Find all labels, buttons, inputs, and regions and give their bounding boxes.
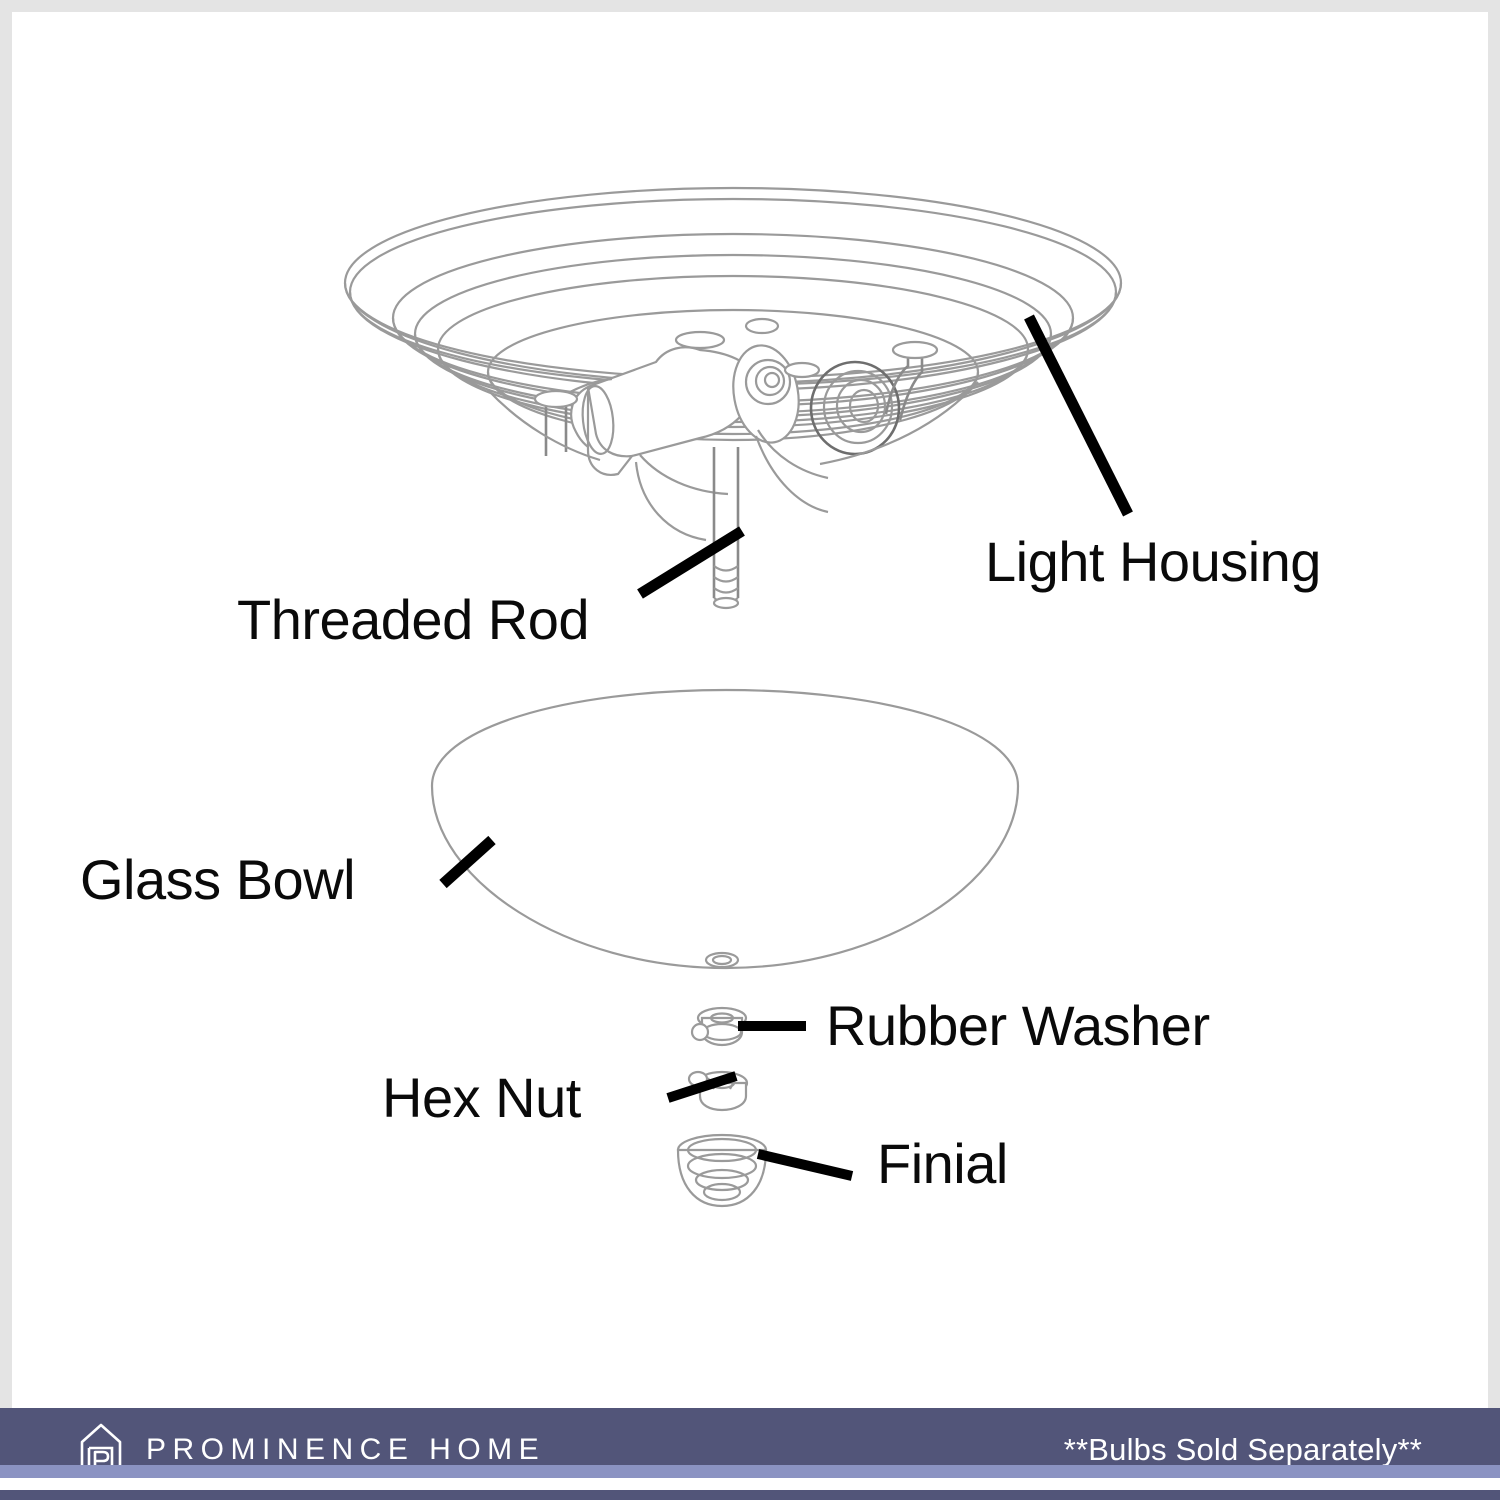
exploded-diagram-artwork: .ln { fill:none; stroke:#9a9a9a; stroke-… bbox=[0, 0, 1500, 1500]
footer-white-strip bbox=[0, 1478, 1500, 1490]
threaded-rod-part bbox=[714, 447, 738, 608]
label-finial: Finial bbox=[877, 1136, 1008, 1192]
label-hex-nut: Hex Nut bbox=[382, 1070, 581, 1126]
bulbs-sold-separately-note: **Bulbs Sold Separately** bbox=[1064, 1432, 1422, 1468]
glass-bowl-part bbox=[432, 690, 1018, 968]
leader-light-housing bbox=[1029, 317, 1128, 514]
footer-accent-strip bbox=[0, 1465, 1500, 1478]
finial-part bbox=[678, 1135, 766, 1206]
label-light-housing: Light Housing bbox=[985, 534, 1321, 590]
rubber-washer-part bbox=[692, 1008, 746, 1045]
leader-threaded-rod bbox=[640, 531, 742, 594]
product-diagram-page: .ln { fill:none; stroke:#9a9a9a; stroke-… bbox=[0, 0, 1500, 1500]
leader-finial bbox=[758, 1154, 852, 1176]
label-rubber-washer: Rubber Washer bbox=[826, 998, 1210, 1054]
light-housing-part bbox=[345, 188, 1121, 540]
brand-name: PROMINENCE HOME bbox=[146, 1433, 545, 1467]
label-threaded-rod: Threaded Rod bbox=[237, 592, 589, 648]
label-glass-bowl: Glass Bowl bbox=[80, 852, 355, 908]
